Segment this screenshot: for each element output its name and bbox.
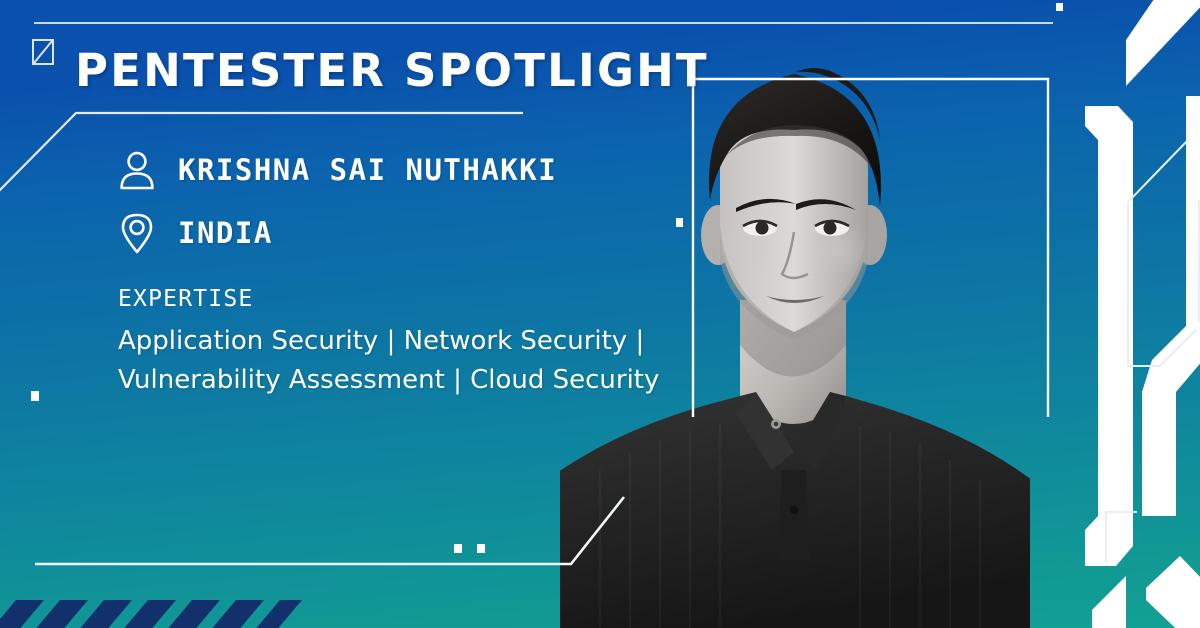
dot-mid-a <box>454 544 462 553</box>
location-pin-icon <box>118 211 156 255</box>
page-title: PENTESTER SPOTLIGHT <box>75 44 709 97</box>
pentester-location: INDIA <box>178 216 273 250</box>
expertise-list: Application Security | Network Security … <box>118 322 648 400</box>
pentester-name-row: KRISHNA SAI NUTHAKKI <box>118 148 557 192</box>
expertise-line: Application Security | Network Security … <box>118 322 648 361</box>
dot-left <box>31 391 39 401</box>
dot-top-right <box>1056 3 1063 11</box>
pentester-name: KRISHNA SAI NUTHAKKI <box>178 153 557 187</box>
person-icon <box>118 148 156 192</box>
dot-frame-a <box>676 218 683 227</box>
tech-bracket-shapes-right <box>1085 0 1200 628</box>
expertise-line: Vulnerability Assessment | Cloud Securit… <box>118 361 648 400</box>
angled-rule-bottom <box>35 497 624 564</box>
pentester-spotlight-banner: PENTESTER SPOTLIGHT KRISHNA SAI NUTHAKKI… <box>0 0 1200 628</box>
expertise-label: EXPERTISE <box>118 286 253 312</box>
diagonal-stripes-bottom-left <box>0 600 302 628</box>
photo-frame-outline <box>693 79 1048 417</box>
crossed-square-icon <box>33 40 53 64</box>
dot-mid-b <box>477 544 485 553</box>
pentester-location-row: INDIA <box>118 211 273 255</box>
